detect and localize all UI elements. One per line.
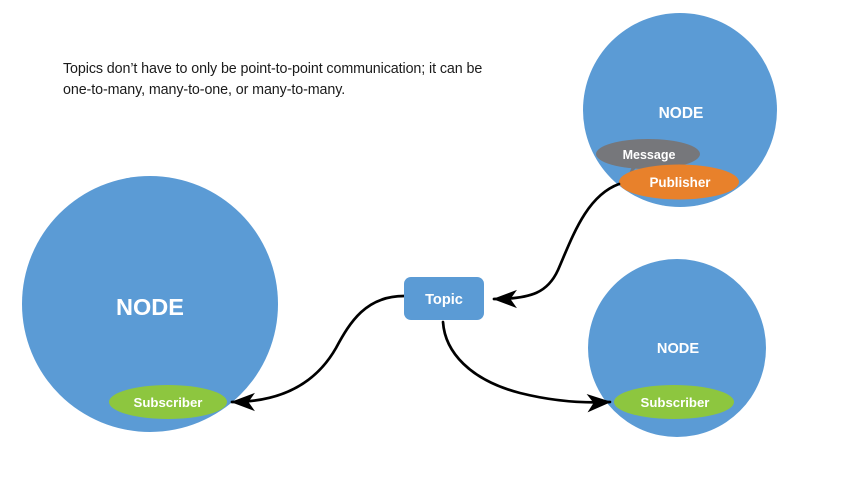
node-top-right[interactable]: NODE Message Publisher — [583, 13, 777, 207]
node-bottom-right-label: NODE — [657, 341, 699, 357]
caption-text: Topics don’t have to only be point-to-po… — [63, 59, 483, 101]
message-callout-label: Message — [623, 148, 676, 162]
subscriber-left-label: Subscriber — [134, 395, 203, 410]
arrow-topic-to-bottom-right-subscriber[interactable] — [443, 322, 610, 402]
topic-box-label: Topic — [425, 292, 463, 308]
subscriber-left[interactable]: Subscriber — [109, 385, 227, 419]
subscriber-bottom-right-label: Subscriber — [641, 395, 710, 410]
diagram-canvas: NODE Subscriber NODE Message Publisher — [0, 0, 854, 480]
publisher[interactable]: Publisher — [619, 165, 739, 200]
node-top-right-label: NODE — [659, 105, 704, 122]
publisher-label: Publisher — [649, 175, 711, 190]
node-bottom-right[interactable]: NODE Subscriber — [588, 259, 766, 437]
topic-box[interactable]: Topic — [404, 277, 484, 320]
subscriber-bottom-right[interactable]: Subscriber — [614, 385, 734, 419]
node-left-label: NODE — [116, 294, 184, 320]
node-left[interactable]: NODE Subscriber — [22, 176, 278, 432]
arrow-publisher-to-topic[interactable] — [494, 184, 619, 299]
